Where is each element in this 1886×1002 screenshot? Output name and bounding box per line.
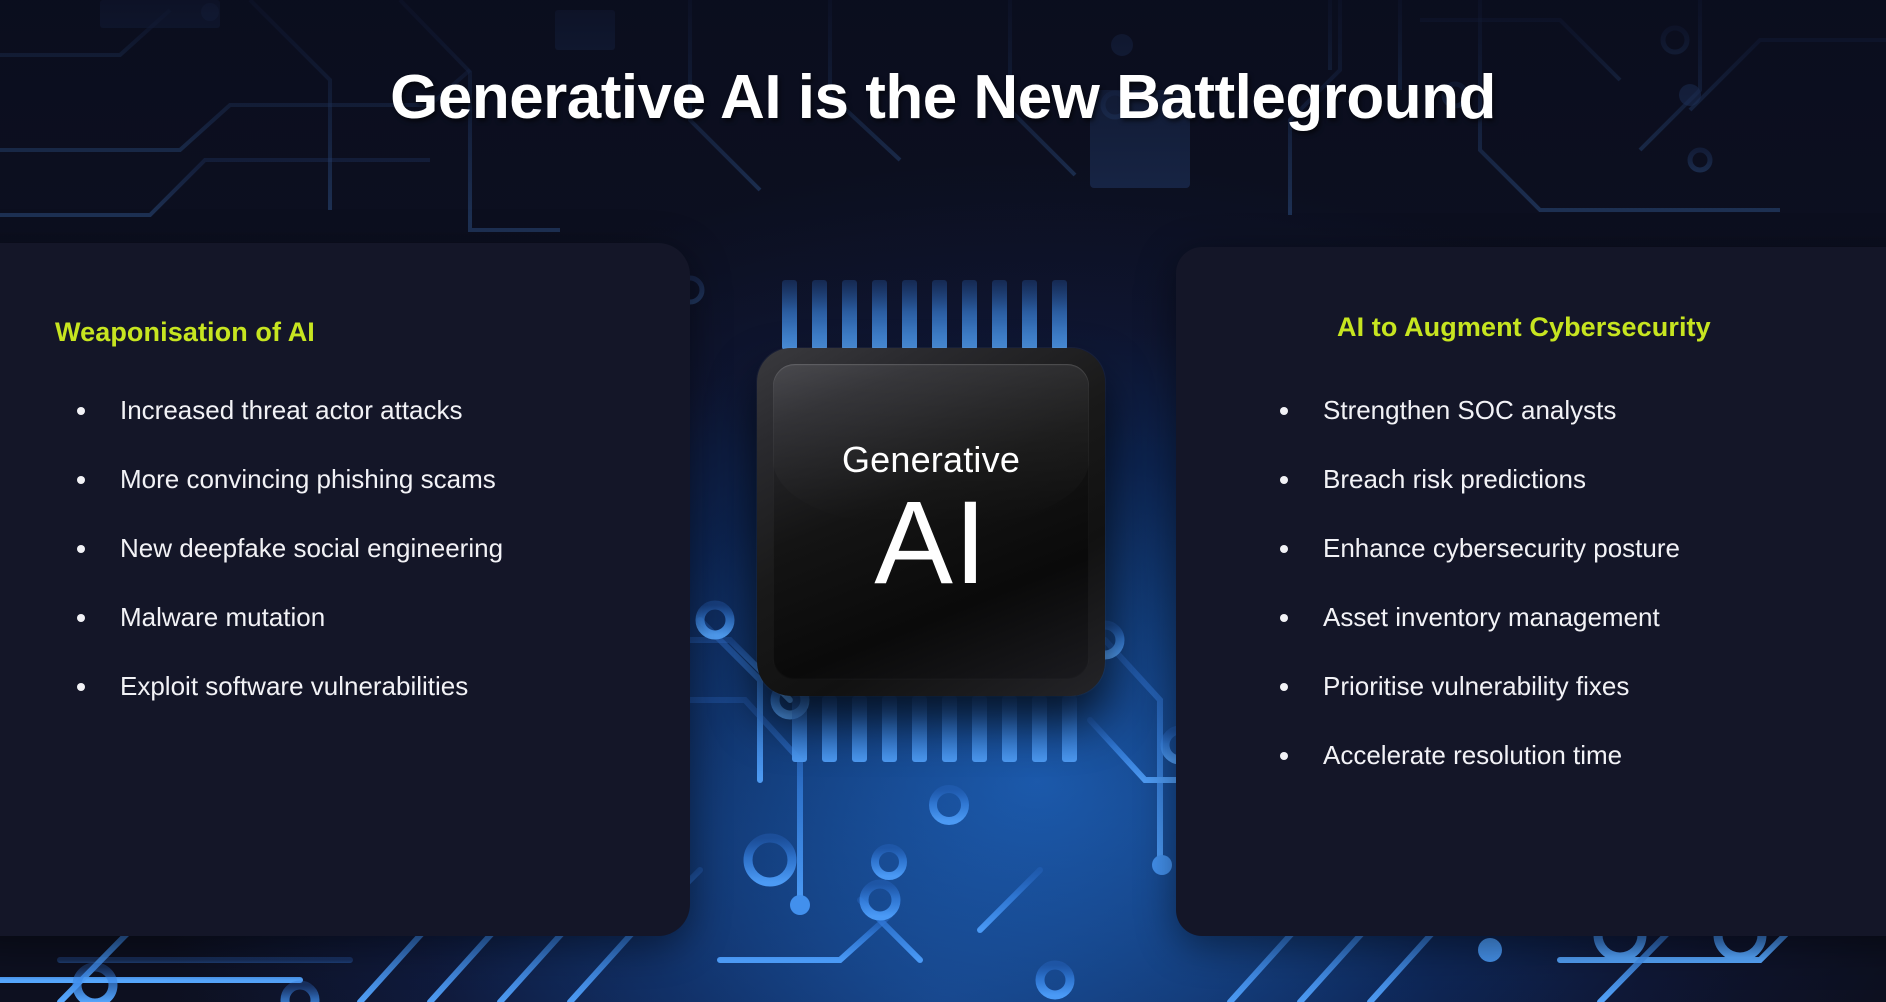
- list-item-label: Increased threat actor attacks: [120, 395, 463, 425]
- list-item: More convincing phishing scams: [75, 466, 675, 492]
- list-item-label: More convincing phishing scams: [120, 464, 496, 494]
- bullet-dot-icon: [77, 476, 85, 484]
- bullet-dot-icon: [1280, 476, 1288, 484]
- right-column-heading: AI to Augment Cybersecurity: [1337, 312, 1711, 343]
- list-item-label: Asset inventory management: [1323, 602, 1660, 632]
- bullet-dot-icon: [77, 407, 85, 415]
- list-item: Prioritise vulnerability fixes: [1278, 673, 1886, 699]
- chip-main-label: AI: [874, 484, 988, 602]
- list-item-label: Breach risk predictions: [1323, 464, 1586, 494]
- slide-title: Generative AI is the New Battleground: [0, 62, 1886, 133]
- left-column-heading: Weaponisation of AI: [55, 317, 315, 348]
- presentation-slide: Generative AI Generative AI is the New B…: [0, 0, 1886, 1002]
- bullet-dot-icon: [1280, 683, 1288, 691]
- list-item: Increased threat actor attacks: [75, 397, 675, 423]
- list-item: Asset inventory management: [1278, 604, 1886, 630]
- bullet-dot-icon: [1280, 614, 1288, 622]
- chip-label-group: Generative AI: [757, 348, 1105, 696]
- left-bullet-list: Increased threat actor attacks More conv…: [75, 397, 675, 742]
- list-item: Breach risk predictions: [1278, 466, 1886, 492]
- list-item-label: Strengthen SOC analysts: [1323, 395, 1616, 425]
- right-bullet-list: Strengthen SOC analysts Breach risk pred…: [1278, 397, 1886, 811]
- list-item: Strengthen SOC analysts: [1278, 397, 1886, 423]
- list-item: Enhance cybersecurity posture: [1278, 535, 1886, 561]
- list-item-label: Malware mutation: [120, 602, 325, 632]
- list-item-label: Exploit software vulnerabilities: [120, 671, 468, 701]
- bullet-dot-icon: [1280, 545, 1288, 553]
- chip-sub-label: Generative: [842, 442, 1020, 478]
- list-item: Malware mutation: [75, 604, 675, 630]
- list-item-label: New deepfake social engineering: [120, 533, 503, 563]
- bullet-dot-icon: [1280, 407, 1288, 415]
- list-item: Exploit software vulnerabilities: [75, 673, 675, 699]
- bullet-dot-icon: [77, 683, 85, 691]
- bullet-dot-icon: [77, 545, 85, 553]
- bullet-dot-icon: [77, 614, 85, 622]
- list-item: New deepfake social engineering: [75, 535, 675, 561]
- generative-ai-chip: Generative AI: [757, 348, 1105, 696]
- list-item-label: Enhance cybersecurity posture: [1323, 533, 1680, 563]
- list-item: Accelerate resolution time: [1278, 742, 1886, 768]
- list-item-label: Accelerate resolution time: [1323, 740, 1622, 770]
- list-item-label: Prioritise vulnerability fixes: [1323, 671, 1629, 701]
- bullet-dot-icon: [1280, 752, 1288, 760]
